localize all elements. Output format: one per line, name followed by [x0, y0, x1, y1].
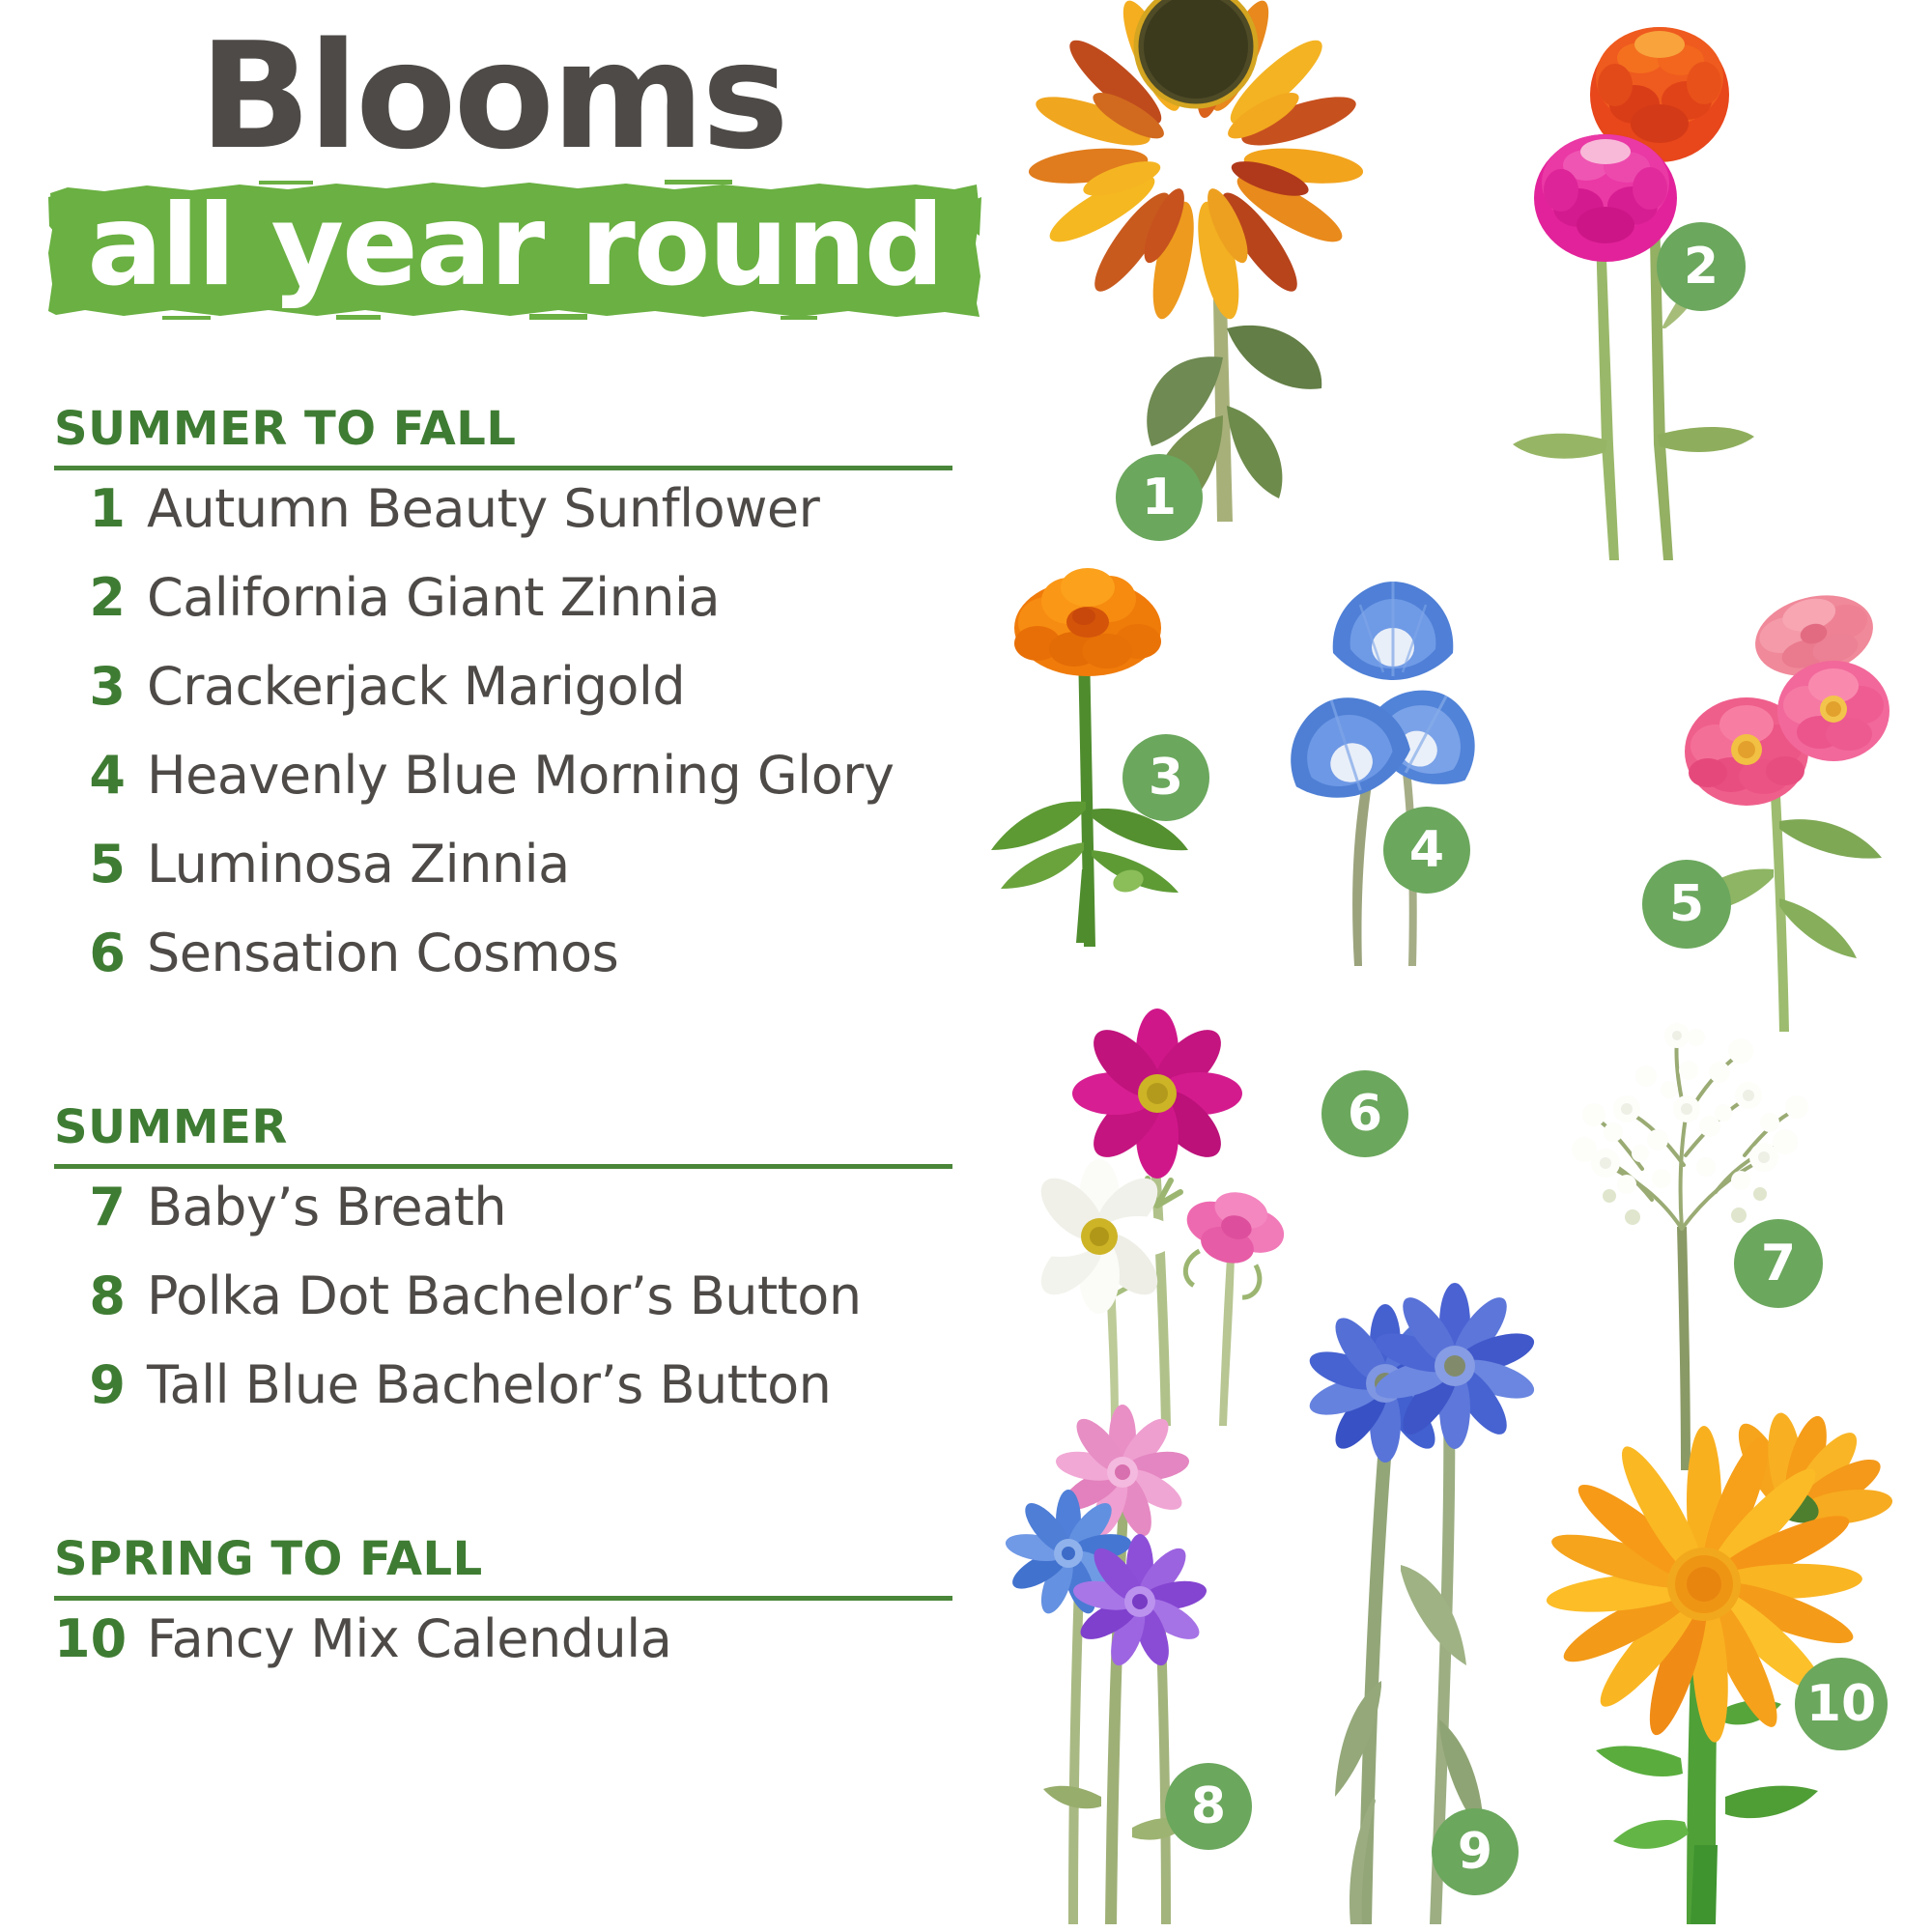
badge-4[interactable]: 4 — [1383, 807, 1470, 894]
text-column: Blooms all year round SUMM — [0, 0, 1005, 1932]
badge-10[interactable]: 10 — [1795, 1658, 1888, 1750]
item-label: California Giant Zinnia — [147, 567, 720, 628]
badge-6[interactable]: 6 — [1321, 1070, 1408, 1157]
list-item[interactable]: 6 Sensation Cosmos — [54, 923, 952, 1011]
badge-8[interactable]: 8 — [1165, 1763, 1252, 1850]
item-number: 10 — [54, 1608, 126, 1669]
item-label: Autumn Beauty Sunflower — [147, 478, 819, 539]
item-number: 5 — [54, 834, 126, 895]
badge-3[interactable]: 3 — [1122, 734, 1209, 821]
item-number: 3 — [54, 656, 126, 717]
infographic-root: Blooms all year round SUMM — [0, 0, 1932, 1932]
item-number: 7 — [54, 1177, 126, 1237]
list-item[interactable]: 2 California Giant Zinnia — [54, 567, 952, 656]
bloom-list: 7 Baby’s Breath 8 Polka Dot Bachelor’s B… — [54, 1177, 952, 1443]
badge-label: 4 — [1409, 821, 1444, 879]
item-number: 9 — [54, 1354, 126, 1415]
list-item[interactable]: 3 Crackerjack Marigold — [54, 656, 952, 745]
section-heading: SUMMER — [54, 1104, 952, 1151]
title-block: Blooms all year round — [58, 23, 966, 321]
item-number: 8 — [54, 1265, 126, 1326]
section-spacer — [54, 1011, 952, 1104]
bloom-list: 10 Fancy Mix Calendula — [54, 1608, 952, 1697]
item-number: 4 — [54, 745, 126, 806]
item-label: Luminosa Zinnia — [147, 834, 570, 895]
badge-label: 8 — [1191, 1777, 1226, 1835]
section-divider — [54, 466, 952, 470]
badge-label: 7 — [1761, 1235, 1796, 1293]
title-banner: all year round — [46, 176, 983, 321]
section-spring-to-fall: SPRING TO FALL 10 Fancy Mix Calendula — [54, 1536, 952, 1697]
item-label: Crackerjack Marigold — [147, 656, 685, 717]
section-divider — [54, 1164, 952, 1169]
item-label: Polka Dot Bachelor’s Button — [147, 1265, 862, 1326]
item-number: 6 — [54, 923, 126, 983]
badge-label: 1 — [1142, 469, 1177, 526]
item-label: Sensation Cosmos — [147, 923, 618, 983]
badge-label: 10 — [1806, 1675, 1876, 1733]
bloom-sections: SUMMER TO FALL 1 Autumn Beauty Sunflower… — [54, 406, 952, 1697]
section-divider — [54, 1596, 952, 1601]
badge-5[interactable]: 5 — [1642, 860, 1731, 949]
section-heading: SPRING TO FALL — [54, 1536, 952, 1582]
badge-label: 3 — [1149, 749, 1183, 807]
list-item[interactable]: 1 Autumn Beauty Sunflower — [54, 478, 952, 567]
item-label: Heavenly Blue Morning Glory — [147, 745, 894, 806]
title-banner-text: all year round — [46, 176, 983, 321]
flower-photo-zinnia-luminosa — [1623, 580, 1913, 1043]
section-heading: SUMMER TO FALL — [54, 406, 952, 452]
badge-label: 2 — [1684, 238, 1719, 296]
badge-1[interactable]: 1 — [1116, 454, 1203, 541]
item-number: 2 — [54, 567, 126, 628]
badge-label: 9 — [1458, 1823, 1492, 1881]
flower-photo-morning-glory — [1246, 580, 1526, 985]
badge-2[interactable]: 2 — [1657, 222, 1746, 311]
item-label: Tall Blue Bachelor’s Button — [147, 1354, 831, 1415]
flower-photo-sunflower — [1043, 10, 1410, 531]
item-label: Baby’s Breath — [147, 1177, 506, 1237]
page-title: Blooms — [48, 23, 937, 170]
badge-9[interactable]: 9 — [1432, 1808, 1519, 1895]
badge-label: 6 — [1348, 1085, 1382, 1143]
section-summer-to-fall: SUMMER TO FALL 1 Autumn Beauty Sunflower… — [54, 406, 952, 1011]
list-item[interactable]: 5 Luminosa Zinnia — [54, 834, 952, 923]
list-item[interactable]: 9 Tall Blue Bachelor’s Button — [54, 1354, 952, 1443]
item-number: 1 — [54, 478, 126, 539]
section-summer: SUMMER 7 Baby’s Breath 8 Polka Dot Bache… — [54, 1104, 952, 1443]
item-label: Fancy Mix Calendula — [147, 1608, 671, 1669]
section-spacer — [54, 1443, 952, 1536]
list-item[interactable]: 7 Baby’s Breath — [54, 1177, 952, 1265]
list-item[interactable]: 10 Fancy Mix Calendula — [54, 1608, 952, 1697]
badge-label: 5 — [1669, 875, 1704, 933]
flower-photo-zinnia-giant — [1468, 19, 1777, 589]
flower-photo-polka-dot-button — [1005, 1391, 1265, 1932]
badge-7[interactable]: 7 — [1734, 1219, 1823, 1308]
list-item[interactable]: 4 Heavenly Blue Morning Glory — [54, 745, 952, 834]
bloom-list: 1 Autumn Beauty Sunflower 2 California G… — [54, 478, 952, 1011]
list-item[interactable]: 8 Polka Dot Bachelor’s Button — [54, 1265, 952, 1354]
